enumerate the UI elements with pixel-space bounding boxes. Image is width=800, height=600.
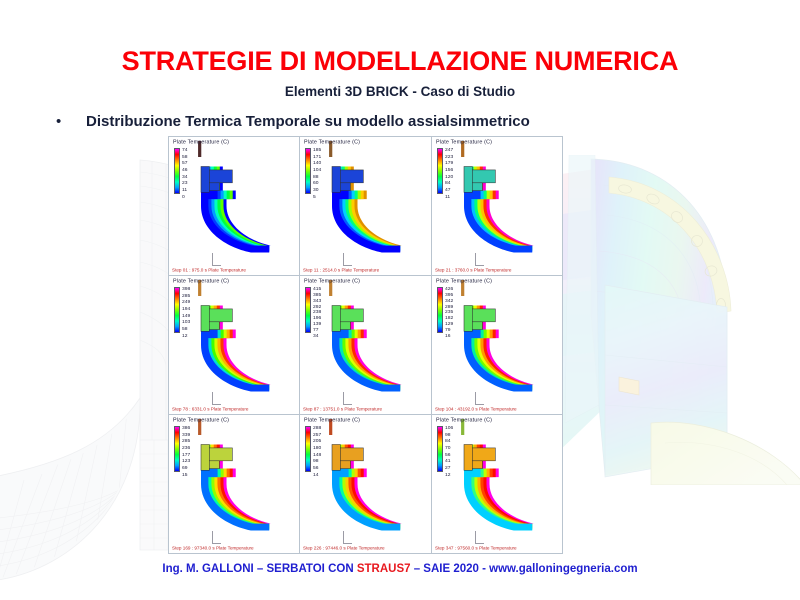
panel-title: Plate Temperature (C): [304, 139, 360, 145]
panel-title: Plate Temperature (C): [304, 417, 360, 423]
panel-step-label: Step 226 : 97446.0 s Plate Temperature: [303, 545, 385, 551]
legend-tick-label: 16: [445, 333, 453, 341]
legend-tick-label: 0: [182, 194, 187, 202]
axis-triad-icon: [212, 253, 221, 266]
slide-canvas: STRATEGIE DI MODELLAZIONE NUMERICA Eleme…: [0, 0, 800, 600]
background-thermal-contour-model: [555, 155, 800, 485]
legend-color-bar: [437, 426, 443, 472]
legend-tick-label: 15: [182, 472, 190, 480]
legend-color-bar: [437, 287, 443, 333]
axis-triad-icon: [212, 531, 221, 544]
legend: 247223179156120844711: [437, 148, 451, 200]
bullet-row: • Distribuzione Termica Temporale su mod…: [56, 112, 756, 132]
legend: 745857463423110: [174, 148, 186, 200]
footer-part1: Ing. M. GALLONI – SERBATOI CON: [162, 563, 356, 575]
page-title: STRATEGIE DI MODELLAZIONE NUMERICA: [0, 46, 800, 77]
panel-step-label: Step 87 : 13751.0 s Plate Temperature: [303, 406, 382, 412]
legend: 10698847056412712: [437, 426, 451, 478]
legend-labels: 247223179156120844711: [445, 148, 451, 200]
legend-color-bar: [437, 148, 443, 194]
axis-triad-icon: [475, 253, 484, 266]
legend-labels: 288257205180148985614: [313, 426, 319, 478]
results-image-grid: Plate Temperature (C)745857463423110Step…: [168, 136, 563, 554]
page-subtitle: Elementi 3D BRICK - Caso di Studio: [0, 84, 800, 99]
legend-tick-label: 34: [313, 333, 321, 341]
panel-step-label: Step 169 : 97340.0 s Plate Temperature: [172, 545, 254, 551]
legend-tick-label: 11: [445, 194, 453, 202]
axis-triad-icon: [343, 253, 352, 266]
result-panel[interactable]: Plate Temperature (C)745857463423110Step…: [169, 137, 299, 275]
panel-title: Plate Temperature (C): [436, 417, 492, 423]
result-panel[interactable]: Plate Temperature (C)3863392852361771236…: [169, 415, 299, 553]
panel-step-label: Step 01 : 975.0 s Plate Temperature: [172, 267, 246, 273]
legend-tick-label: 5: [313, 194, 321, 202]
panel-step-label: Step 78 : 6331.0 s Plate Temperature: [172, 406, 248, 412]
legend-labels: 3863392852361771236915: [182, 426, 188, 478]
bullet-text: Distribuzione Termica Temporale su model…: [86, 112, 530, 132]
legend: 3863392852361771236915: [174, 426, 188, 478]
panel-title: Plate Temperature (C): [173, 278, 229, 284]
axis-triad-icon: [343, 392, 352, 405]
panel-step-label: Step 11 : 2514.0 s Plate Temperature: [303, 267, 379, 273]
result-panel[interactable]: Plate Temperature (C)1851711401048860305…: [300, 137, 430, 275]
legend-labels: 10698847056412712: [445, 426, 451, 478]
legend-labels: 1851711401048860305: [313, 148, 319, 200]
legend: 4153853432922381961397734: [305, 287, 319, 339]
result-panel[interactable]: Plate Temperature (C)4153853432922381961…: [300, 276, 430, 414]
panel-title: Plate Temperature (C): [436, 278, 492, 284]
axis-triad-icon: [343, 531, 352, 544]
panel-step-label: Step 347 : 97560.0 s Plate Temperature: [435, 545, 517, 551]
panel-title: Plate Temperature (C): [173, 417, 229, 423]
legend-tick-label: 12: [445, 472, 453, 480]
result-panel[interactable]: Plate Temperature (C)2882572051801489856…: [300, 415, 430, 553]
axis-triad-icon: [475, 392, 484, 405]
legend-color-bar: [305, 148, 311, 194]
result-panel[interactable]: Plate Temperature (C)3982852491941491035…: [169, 276, 299, 414]
legend: 4263953422892351821297916: [437, 287, 451, 339]
legend-labels: 3982852491941491035812: [182, 287, 188, 339]
panel-title: Plate Temperature (C): [173, 139, 229, 145]
legend: 1851711401048860305: [305, 148, 319, 200]
panel-title: Plate Temperature (C): [436, 139, 492, 145]
result-panel[interactable]: Plate Temperature (C)10698847056412712St…: [432, 415, 562, 553]
bullet-marker: •: [56, 112, 86, 132]
legend-color-bar: [305, 426, 311, 472]
panel-step-label: Step 104 : 43192.0 s Plate Temperature: [435, 406, 517, 412]
legend-color-bar: [174, 148, 180, 194]
footer-credit: Ing. M. GALLONI – SERBATOI CON STRAUS7 –…: [0, 563, 800, 575]
legend-labels: 4263953422892351821297916: [445, 287, 451, 339]
result-panel[interactable]: Plate Temperature (C)2472231791561208447…: [432, 137, 562, 275]
result-panel[interactable]: Plate Temperature (C)4263953422892351821…: [432, 276, 562, 414]
axis-triad-icon: [212, 392, 221, 405]
footer-part2: – SAIE 2020 - www.galloningegneria.com: [411, 563, 638, 575]
legend: 288257205180148985614: [305, 426, 319, 478]
legend-labels: 4153853432922381961397734: [313, 287, 319, 339]
legend: 3982852491941491035812: [174, 287, 188, 339]
legend-tick-label: 12: [182, 333, 190, 341]
panel-step-label: Step 21 : 3760.0 s Plate Temperature: [435, 267, 511, 273]
axis-triad-icon: [475, 531, 484, 544]
legend-labels: 745857463423110: [182, 148, 186, 200]
legend-color-bar: [174, 287, 180, 333]
panel-title: Plate Temperature (C): [304, 278, 360, 284]
footer-highlight: STRAUS7: [357, 563, 411, 575]
legend-tick-label: 14: [313, 472, 321, 480]
legend-color-bar: [174, 426, 180, 472]
legend-color-bar: [305, 287, 311, 333]
